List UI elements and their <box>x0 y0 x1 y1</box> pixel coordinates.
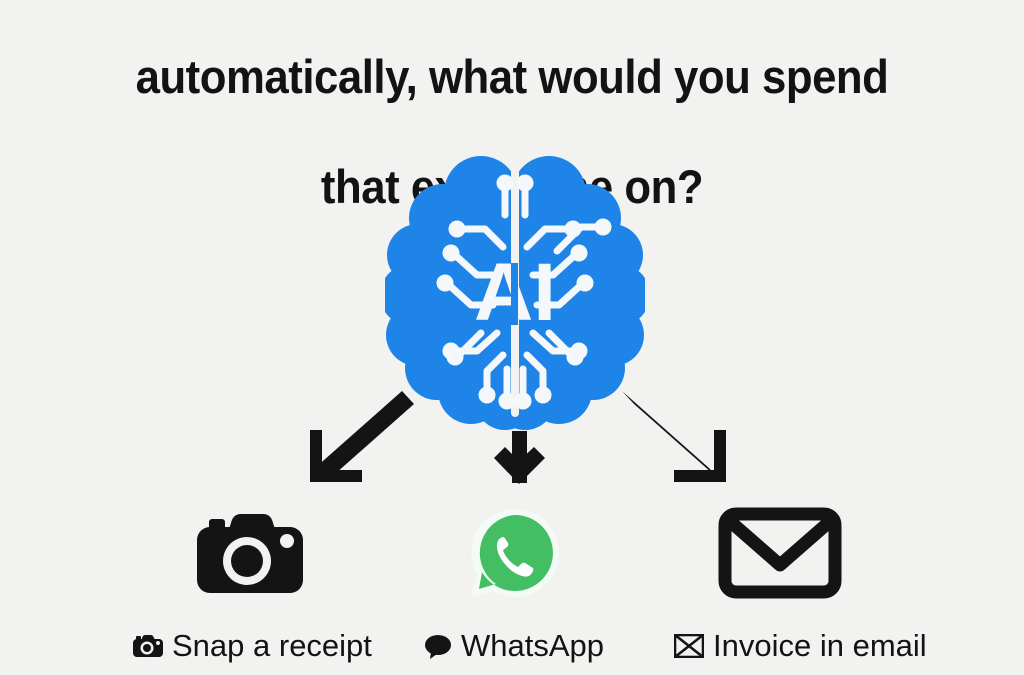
option-label-whatsapp-text: WhatsApp <box>461 624 604 668</box>
options-label-row: Snap a receipt WhatsApp Invoice in email <box>0 624 1024 672</box>
option-icon-camera[interactable] <box>140 500 360 605</box>
option-label-camera[interactable]: Snap a receipt <box>133 624 372 668</box>
option-label-email-text: Invoice in email <box>713 624 927 668</box>
envelope-icon <box>718 505 842 601</box>
options-icon-row <box>0 500 1024 605</box>
envelope-glyph-icon <box>674 634 704 658</box>
arrow-to-whatsapp <box>494 431 545 484</box>
option-label-camera-text: Snap a receipt <box>172 624 372 668</box>
option-label-email[interactable]: Invoice in email <box>674 624 927 668</box>
option-icon-email[interactable] <box>660 500 900 605</box>
headline-line-1: automatically, what would you spend <box>36 49 988 104</box>
option-label-whatsapp[interactable]: WhatsApp <box>424 624 604 668</box>
speech-bubble-glyph-icon <box>424 633 452 659</box>
camera-glyph-icon <box>133 633 163 659</box>
whatsapp-logo-icon <box>467 505 563 601</box>
ai-brain-icon: AI <box>385 155 645 430</box>
infographic-canvas: automatically, what would you spend that… <box>0 0 1024 675</box>
option-icon-whatsapp[interactable] <box>420 500 610 605</box>
camera-icon <box>195 505 305 601</box>
